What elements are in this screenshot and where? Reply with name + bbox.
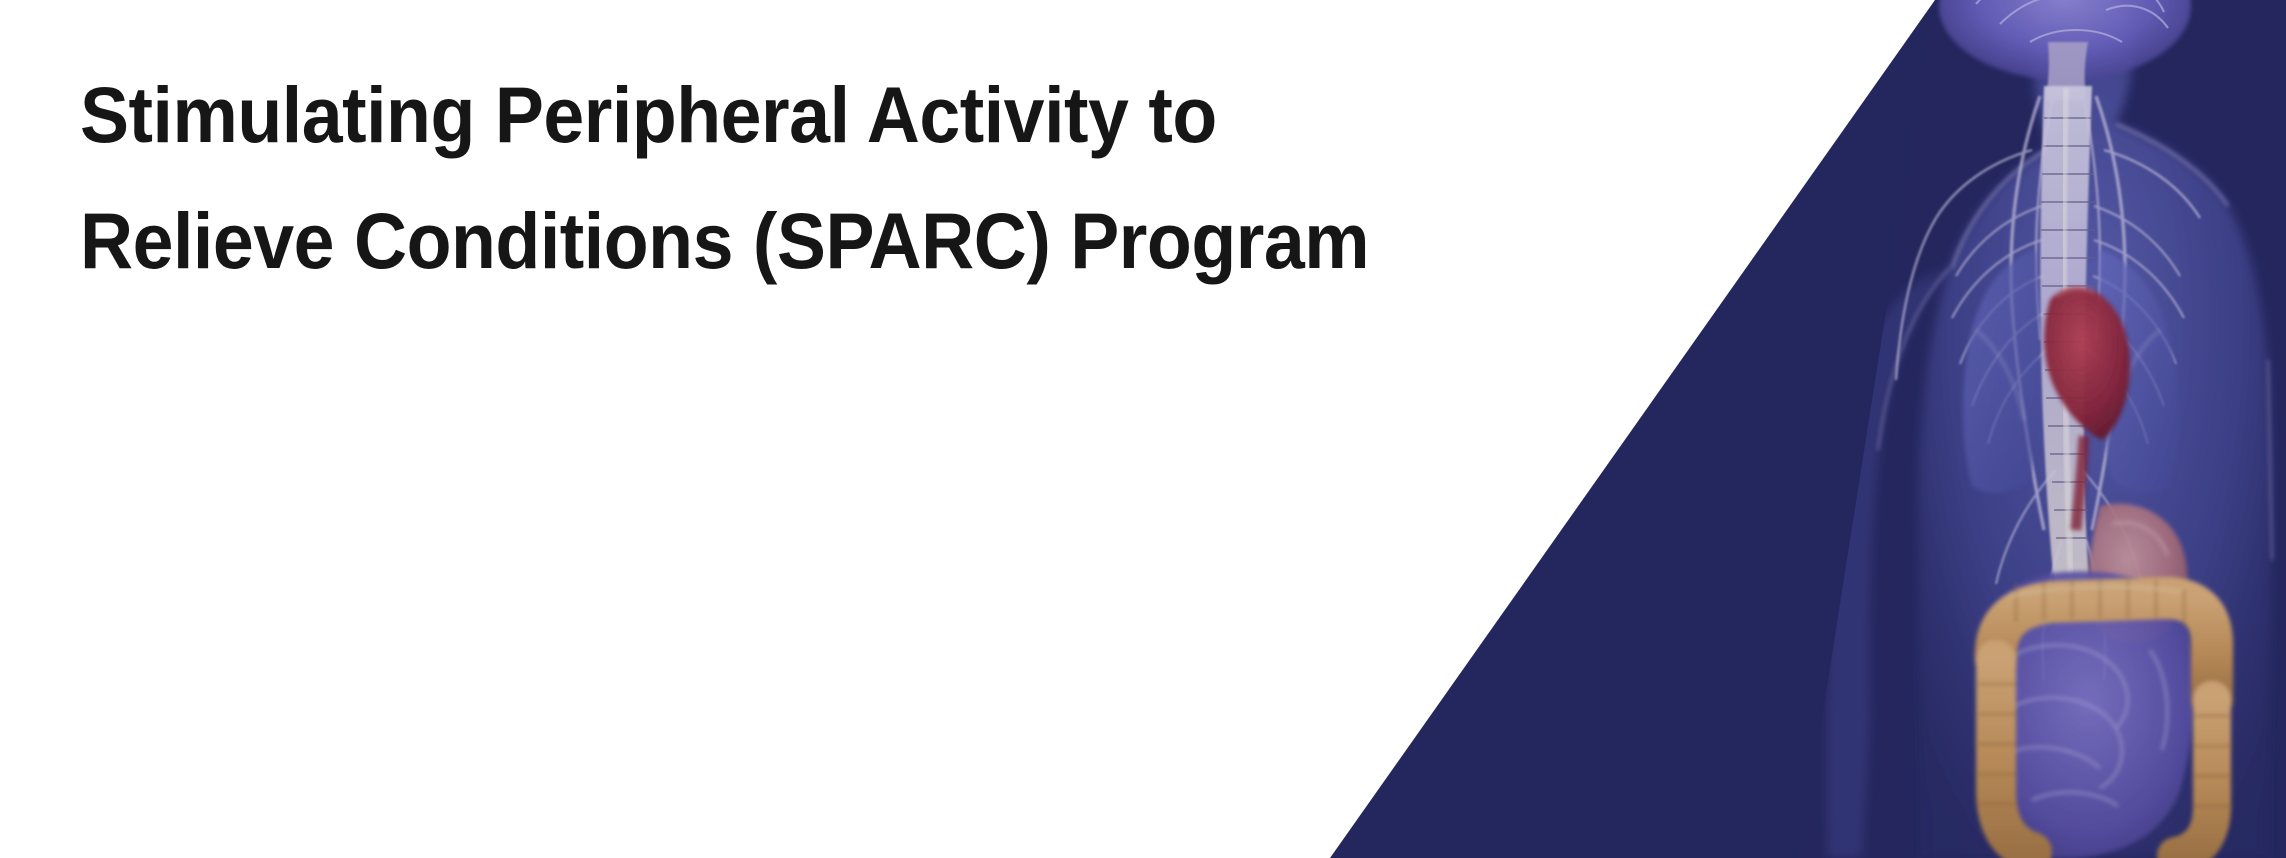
- sparc-program-banner: Stimulating Peripheral Activity to Relie…: [0, 0, 2286, 858]
- title-line-2: Relieve Conditions (SPARC) Program: [80, 178, 1196, 304]
- title-line-1: Stimulating Peripheral Activity to: [80, 52, 1196, 178]
- page-title: Stimulating Peripheral Activity to Relie…: [80, 52, 1280, 304]
